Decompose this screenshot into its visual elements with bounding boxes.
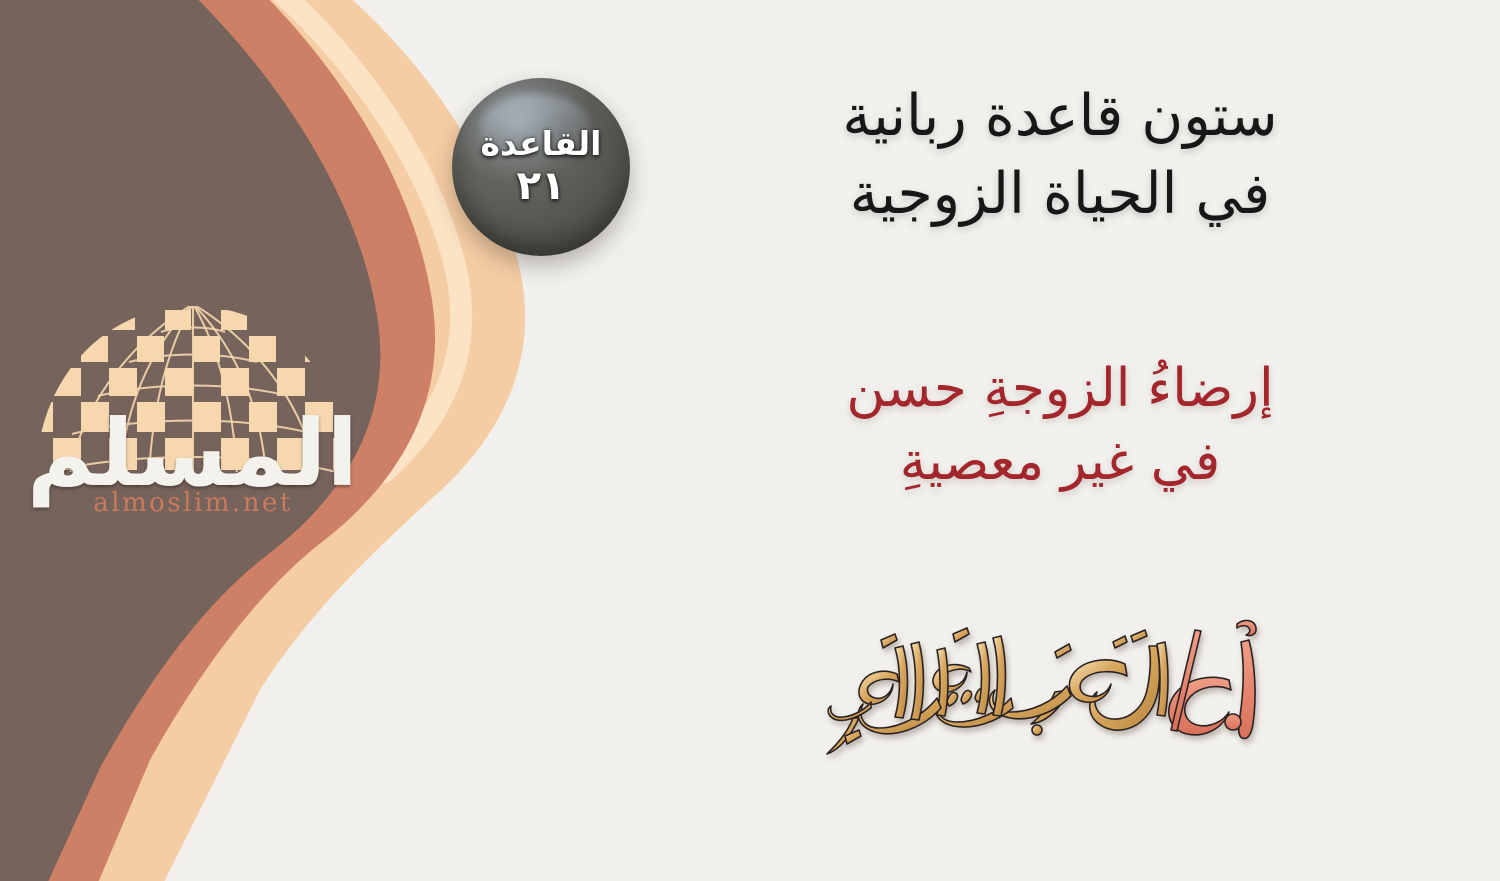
signature-name-glyphs (827, 628, 1168, 754)
author-signature: أ.د/ ناصر بن سليمان العمر (810, 612, 1310, 782)
rule-number-badge: القاعدة ٢١ (452, 78, 630, 256)
signature-prefix-glyphs (1169, 621, 1256, 739)
text-column: ستون قاعدة ربانية في الحياة الزوجية إرضا… (660, 0, 1460, 881)
author-signature-calligraphy (810, 612, 1310, 782)
poster-title: ستون قاعدة ربانية في الحياة الزوجية (720, 78, 1400, 233)
subtitle-line-1: إرضاءُ الزوجةِ حسن (710, 352, 1410, 425)
logo-wordmark: المسلم (28, 408, 358, 500)
subtitle-line-2: في غير معصيةِ (710, 425, 1410, 498)
poster-subtitle: إرضاءُ الزوجةِ حسن في غير معصيةِ (710, 352, 1410, 498)
logo-url-text: almoslim.net (28, 488, 358, 518)
badge-label: القاعدة (481, 127, 602, 162)
title-line-2: في الحياة الزوجية (720, 156, 1400, 234)
title-line-1: ستون قاعدة ربانية (720, 78, 1400, 156)
poster-canvas: المسلم almoslim.net القاعدة ٢١ ستون قاعد… (0, 0, 1500, 881)
badge-number: ٢١ (517, 165, 566, 207)
almoslim-logo: المسلم almoslim.net (28, 300, 358, 540)
